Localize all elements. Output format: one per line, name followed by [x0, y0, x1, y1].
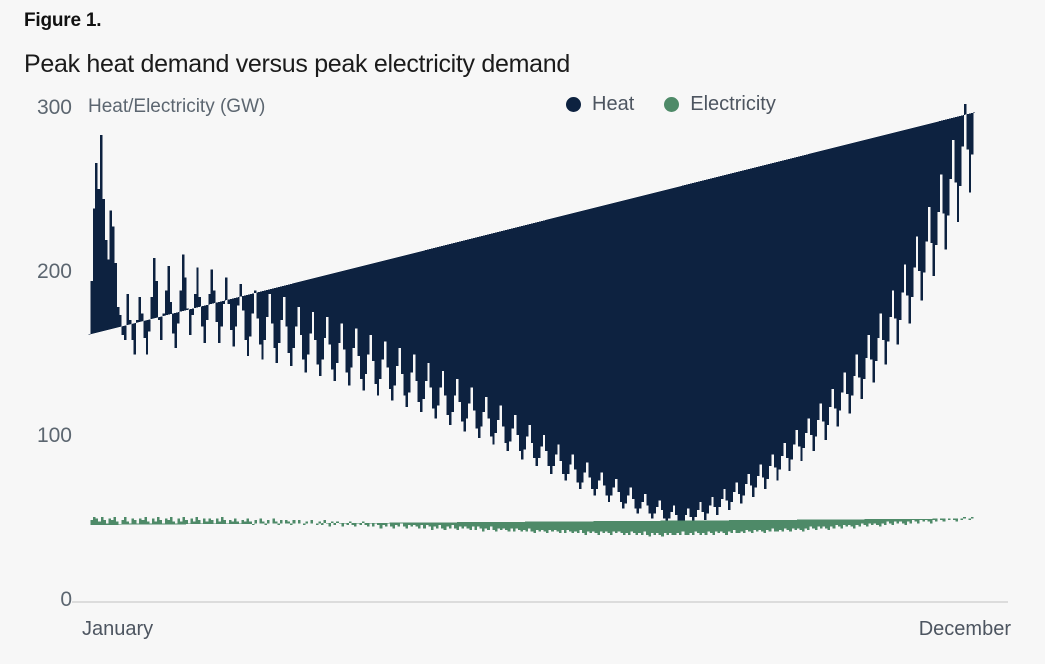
y-axis-tick-0: 0 — [8, 589, 72, 610]
y-axis-tick-100: 100 — [8, 425, 72, 446]
plot-area — [88, 94, 976, 602]
electricity-series-band — [88, 517, 976, 537]
x-axis-line — [72, 601, 1008, 603]
figure-title: Peak heat demand versus peak electricity… — [24, 50, 570, 79]
y-axis-labels: 300 200 100 0 — [0, 0, 72, 664]
heat-series-band — [88, 104, 976, 527]
figure-container: Figure 1. Peak heat demand versus peak e… — [0, 0, 1045, 664]
x-axis-tick-december: December — [919, 618, 1011, 641]
y-axis-tick-300: 300 — [8, 97, 72, 118]
x-axis-tick-january: January — [82, 618, 153, 641]
chart-svg — [88, 94, 976, 602]
y-axis-tick-200: 200 — [8, 261, 72, 282]
